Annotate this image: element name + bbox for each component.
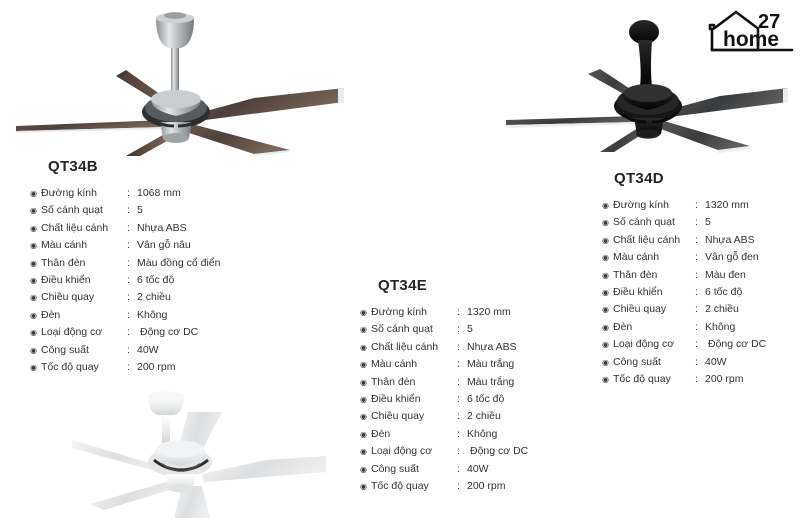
spec-colon: : [695, 354, 705, 370]
spec-colon: : [695, 301, 705, 317]
spec-colon: : [457, 408, 467, 424]
bullet-icon: ◉ [30, 238, 41, 254]
spec-colon: : [127, 307, 137, 323]
spec-value: 2 chiều [137, 289, 262, 305]
spec-value: Không [705, 319, 800, 335]
spec-value: Không [137, 307, 262, 323]
bullet-icon: ◉ [30, 360, 41, 376]
bullet-icon: ◉ [360, 322, 371, 338]
spec-value: Không [467, 426, 592, 442]
spec-label: Điều khiển [41, 272, 127, 288]
spec-row: ◉ Đèn : Không [30, 307, 262, 324]
spec-label: Màu cánh [613, 249, 695, 265]
spec-row: ◉ Màu cánh : Vân gỗ đen [602, 249, 800, 266]
spec-colon: : [457, 339, 467, 355]
spec-row: ◉ Đường kính : 1320 mm [360, 304, 592, 321]
spec-value: 200 rpm [705, 371, 800, 387]
spec-label: Màu cánh [371, 356, 457, 372]
spec-label: Loại động cơ [613, 336, 695, 352]
spec-colon: : [457, 426, 467, 442]
spec-row: ◉ Tốc độ quay : 200 rpm [30, 359, 262, 376]
bullet-icon: ◉ [360, 375, 371, 391]
product-spec-sheet: 27 home [0, 0, 800, 520]
bullet-icon: ◉ [30, 256, 41, 272]
spec-row: ◉ Đèn : Không [360, 426, 592, 443]
spec-colon: : [127, 359, 137, 375]
spec-label: Chất liệu cánh [41, 220, 127, 236]
bullet-icon: ◉ [30, 273, 41, 289]
spec-label: Đường kính [613, 197, 695, 213]
spec-value: Vân gỗ nâu [137, 237, 262, 253]
spec-value: 2 chiều [467, 408, 592, 424]
spec-row: ◉ Thân đèn : Màu đồng cổ điển [30, 255, 262, 272]
spec-label: Chất liệu cánh [613, 232, 695, 248]
spec-colon: : [695, 249, 705, 265]
spec-row: ◉ Điều khiển : 6 tốc độ [30, 272, 262, 289]
spec-label: Chiều quay [613, 301, 695, 317]
bullet-icon: ◉ [30, 203, 41, 219]
bullet-icon: ◉ [360, 357, 371, 373]
spec-row: ◉ Loại động cơ : Động cơ DC [30, 324, 262, 341]
spec-row: ◉ Công suất : 40W [602, 354, 800, 371]
model-title-qt34d: QT34D [614, 170, 800, 187]
spec-label: Điều khiển [371, 391, 457, 407]
spec-row: ◉ Đường kính : 1068 mm [30, 185, 262, 202]
spec-label: Thân đèn [613, 267, 695, 283]
bullet-icon: ◉ [30, 186, 41, 202]
spec-colon: : [457, 321, 467, 337]
spec-value: 5 [137, 202, 262, 218]
spec-row: ◉ Chiều quay : 2 chiều [602, 301, 800, 318]
spec-value: 40W [705, 354, 800, 370]
spec-value: 40W [137, 342, 262, 358]
spec-block-qt34e: QT34E ◉ Đường kính : 1320 mm ◉ Số cánh q… [360, 277, 592, 495]
spec-value: Vân gỗ đen [705, 249, 800, 265]
spec-row: ◉ Tốc độ quay : 200 rpm [602, 371, 800, 388]
bullet-icon: ◉ [602, 285, 613, 301]
spec-value: 200 rpm [137, 359, 262, 375]
spec-row: ◉ Số cánh quạt : 5 [30, 202, 262, 219]
spec-label: Màu cánh [41, 237, 127, 253]
spec-value: Nhựa ABS [137, 220, 262, 236]
bullet-icon: ◉ [602, 302, 613, 318]
spec-colon: : [695, 197, 705, 213]
model-title-qt34e: QT34E [378, 277, 592, 294]
spec-colon: : [127, 220, 137, 236]
spec-colon: : [127, 342, 137, 358]
spec-value: 1320 mm [705, 197, 800, 213]
model-title-qt34b: QT34B [48, 158, 262, 175]
spec-row: ◉ Điều khiển : 6 tốc độ [360, 391, 592, 408]
spec-label: Chiều quay [41, 289, 127, 305]
spec-colon: : [457, 443, 467, 459]
bullet-icon: ◉ [602, 355, 613, 371]
spec-block-qt34b: QT34B ◉ Đường kính : 1068 mm ◉ Số cánh q… [30, 158, 262, 376]
spec-label: Đường kính [371, 304, 457, 320]
spec-label: Chất liệu cánh [371, 339, 457, 355]
spec-value: 6 tốc độ [137, 272, 262, 288]
spec-label: Đèn [371, 426, 457, 442]
spec-value: Màu trắng [467, 374, 592, 390]
bullet-icon: ◉ [360, 340, 371, 356]
bullet-icon: ◉ [30, 325, 41, 341]
bullet-icon: ◉ [602, 372, 613, 388]
spec-label: Số cánh quạt [371, 321, 457, 337]
spec-colon: : [457, 304, 467, 320]
spec-colon: : [127, 289, 137, 305]
spec-value: Nhựa ABS [705, 232, 800, 248]
bullet-icon: ◉ [30, 290, 41, 306]
spec-label: Loại động cơ [41, 324, 127, 340]
spec-value: Động cơ DC [137, 324, 262, 340]
spec-colon: : [457, 461, 467, 477]
spec-row: ◉ Công suất : 40W [360, 461, 592, 478]
spec-row: ◉ Chiều quay : 2 chiều [360, 408, 592, 425]
spec-row: ◉ Điều khiển : 6 tốc độ [602, 284, 800, 301]
spec-value: 200 rpm [467, 478, 592, 494]
spec-list-qt34e: ◉ Đường kính : 1320 mm ◉ Số cánh quạt : … [360, 304, 592, 495]
spec-value: Nhựa ABS [467, 339, 592, 355]
spec-row: ◉ Loại động cơ : Động cơ DC [360, 443, 592, 460]
spec-colon: : [127, 324, 137, 340]
spec-value: 6 tốc độ [705, 284, 800, 300]
spec-value: 5 [705, 214, 800, 230]
bullet-icon: ◉ [360, 409, 371, 425]
spec-label: Thân đèn [41, 255, 127, 271]
spec-colon: : [695, 319, 705, 335]
spec-row: ◉ Đèn : Không [602, 319, 800, 336]
spec-value: 1320 mm [467, 304, 592, 320]
spec-colon: : [695, 214, 705, 230]
spec-value: Màu trắng [467, 356, 592, 372]
spec-label: Công suất [41, 342, 127, 358]
spec-colon: : [457, 356, 467, 372]
bullet-icon: ◉ [360, 444, 371, 460]
spec-row: ◉ Thân đèn : Màu trắng [360, 374, 592, 391]
bullet-icon: ◉ [30, 343, 41, 359]
bullet-icon: ◉ [30, 221, 41, 237]
spec-value: Động cơ DC [467, 443, 592, 459]
bullet-icon: ◉ [602, 320, 613, 336]
spec-label: Thân đèn [371, 374, 457, 390]
spec-value: 40W [467, 461, 592, 477]
spec-colon: : [127, 237, 137, 253]
spec-label: Số cánh quạt [41, 202, 127, 218]
spec-label: Công suất [371, 461, 457, 477]
spec-value: 5 [467, 321, 592, 337]
spec-label: Công suất [613, 354, 695, 370]
spec-row: ◉ Chất liệu cánh : Nhựa ABS [602, 232, 800, 249]
spec-row: ◉ Chiều quay : 2 chiều [30, 289, 262, 306]
spec-colon: : [695, 232, 705, 248]
spec-row: ◉ Chất liệu cánh : Nhựa ABS [30, 220, 262, 237]
spec-label: Đèn [41, 307, 127, 323]
product-image-qt34d [496, 8, 796, 158]
spec-colon: : [127, 185, 137, 201]
spec-label: Điều khiển [613, 284, 695, 300]
spec-row: ◉ Số cánh quạt : 5 [602, 214, 800, 231]
spec-label: Tốc độ quay [41, 359, 127, 375]
spec-value: 6 tốc độ [467, 391, 592, 407]
spec-row: ◉ Chất liệu cánh : Nhựa ABS [360, 339, 592, 356]
spec-row: ◉ Tốc độ quay : 200 rpm [360, 478, 592, 495]
bullet-icon: ◉ [360, 392, 371, 408]
spec-row: ◉ Số cánh quạt : 5 [360, 321, 592, 338]
bullet-icon: ◉ [602, 250, 613, 266]
spec-block-qt34d: QT34D ◉ Đường kính : 1320 mm ◉ Số cánh q… [602, 170, 800, 388]
spec-colon: : [457, 374, 467, 390]
spec-value: 2 chiều [705, 301, 800, 317]
bullet-icon: ◉ [360, 462, 371, 478]
spec-colon: : [457, 478, 467, 494]
spec-label: Loại động cơ [371, 443, 457, 459]
spec-row: ◉ Màu cánh : Màu trắng [360, 356, 592, 373]
spec-colon: : [695, 371, 705, 387]
spec-value: Màu đen [705, 267, 800, 283]
bullet-icon: ◉ [602, 215, 613, 231]
spec-label: Đường kính [41, 185, 127, 201]
spec-colon: : [127, 272, 137, 288]
product-image-qt34e [70, 382, 340, 520]
spec-colon: : [695, 336, 705, 352]
spec-list-qt34b: ◉ Đường kính : 1068 mm ◉ Số cánh quạt : … [30, 185, 262, 376]
bullet-icon: ◉ [360, 305, 371, 321]
spec-row: ◉ Thân đèn : Màu đen [602, 267, 800, 284]
bullet-icon: ◉ [602, 268, 613, 284]
spec-label: Đèn [613, 319, 695, 335]
spec-row: ◉ Công suất : 40W [30, 342, 262, 359]
bullet-icon: ◉ [602, 337, 613, 353]
spec-row: ◉ Loại động cơ : Động cơ DC [602, 336, 800, 353]
spec-value: Màu đồng cổ điển [137, 255, 262, 271]
spec-row: ◉ Màu cánh : Vân gỗ nâu [30, 237, 262, 254]
spec-label: Tốc độ quay [613, 371, 695, 387]
spec-row: ◉ Đường kính : 1320 mm [602, 197, 800, 214]
spec-colon: : [457, 391, 467, 407]
spec-label: Tốc độ quay [371, 478, 457, 494]
spec-list-qt34d: ◉ Đường kính : 1320 mm ◉ Số cánh quạt : … [602, 197, 800, 388]
spec-label: Số cánh quạt [613, 214, 695, 230]
spec-colon: : [127, 255, 137, 271]
bullet-icon: ◉ [30, 308, 41, 324]
product-image-qt34b [8, 4, 348, 156]
bullet-icon: ◉ [360, 427, 371, 443]
spec-colon: : [695, 284, 705, 300]
spec-colon: : [127, 202, 137, 218]
spec-value: 1068 mm [137, 185, 262, 201]
bullet-icon: ◉ [602, 233, 613, 249]
bullet-icon: ◉ [602, 198, 613, 214]
spec-colon: : [695, 267, 705, 283]
spec-value: Động cơ DC [705, 336, 800, 352]
spec-label: Chiều quay [371, 408, 457, 424]
bullet-icon: ◉ [360, 479, 371, 495]
